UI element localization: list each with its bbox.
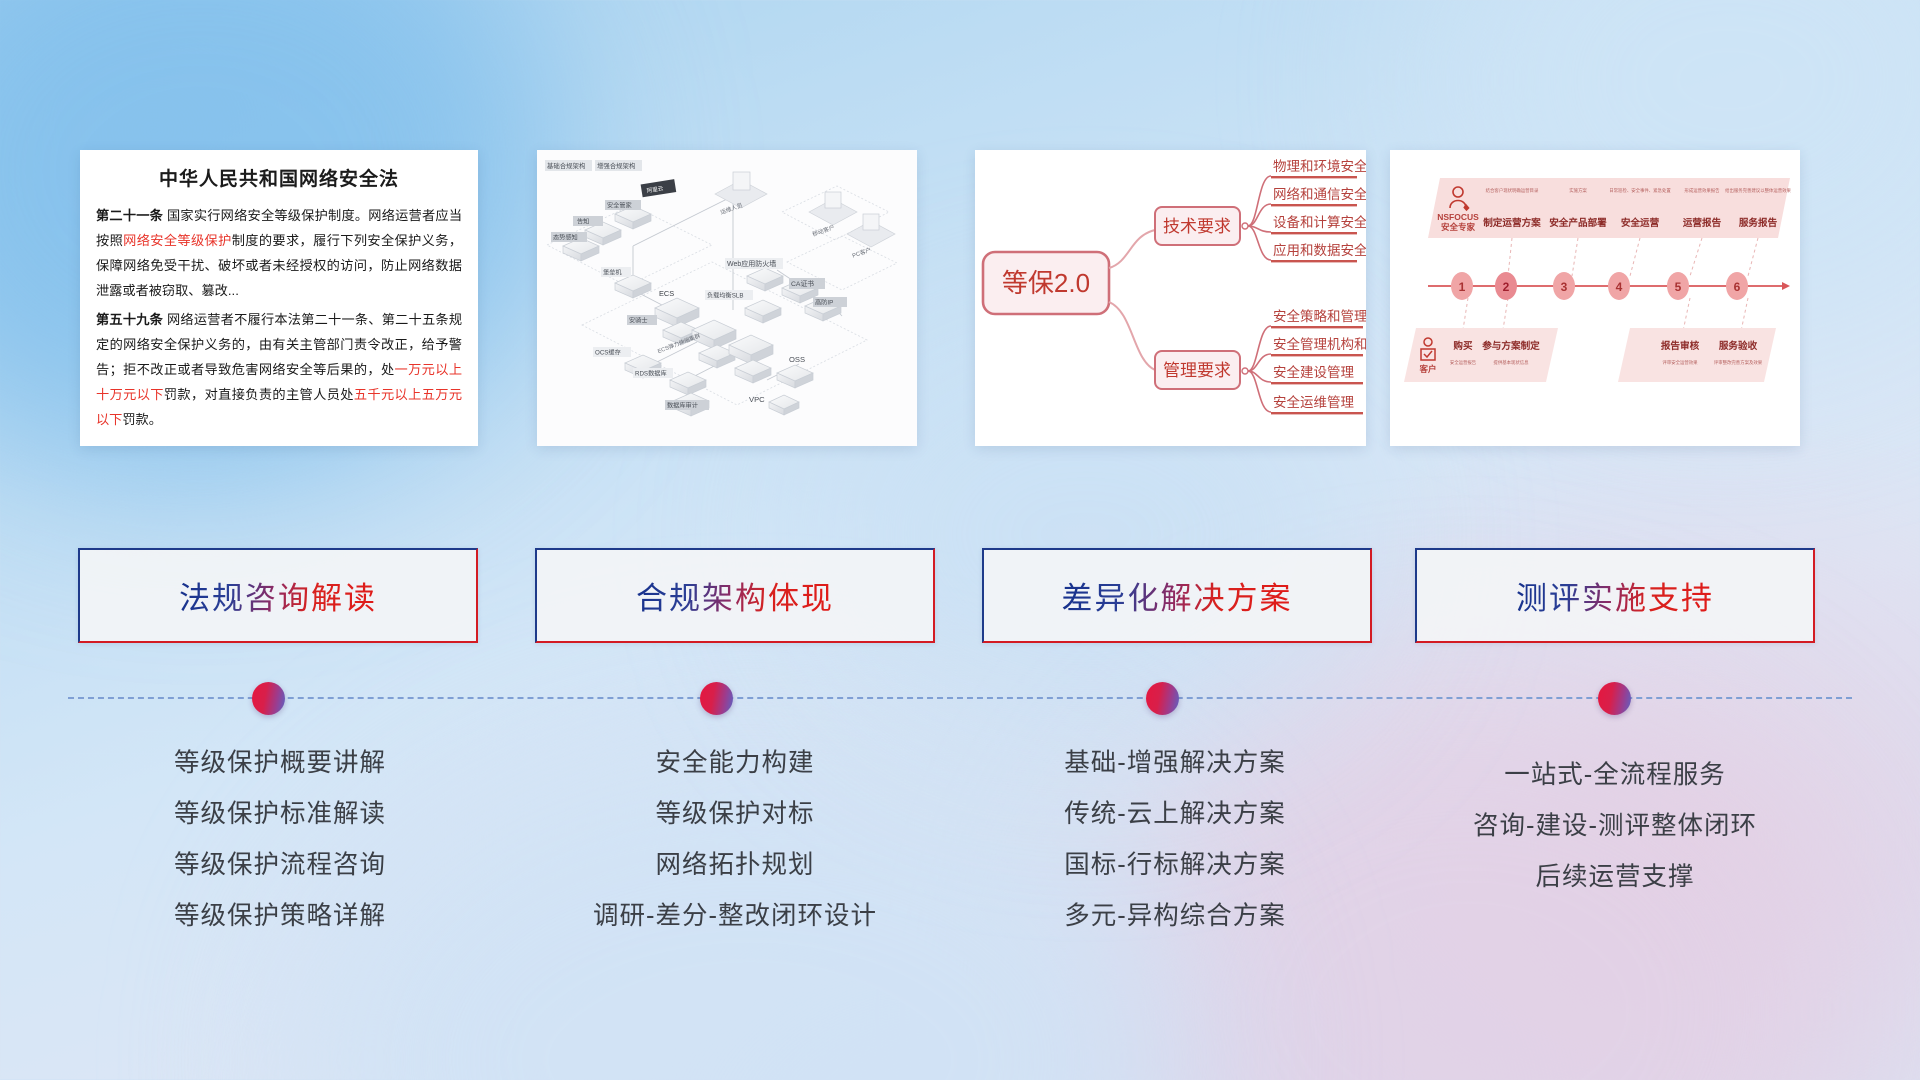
heading-label-1: 合规架构体现: [636, 573, 834, 618]
nsfocus-top-band: [1428, 178, 1790, 238]
timeline-connector: [0, 680, 1920, 720]
card-cybersecurity-law: 中华人民共和国网络安全法 第二十一条 国家实行网络安全等级保护制度。网络运营者应…: [80, 150, 478, 446]
svg-text:3: 3: [1561, 280, 1568, 294]
detail-item: 等级保护概要讲解: [80, 738, 480, 789]
mindmap-b1-item-0: 物理和环境安全: [1273, 158, 1366, 174]
detail-item: 网络拓扑规划: [535, 840, 935, 891]
arch-node-ocs: OCS缓存: [595, 349, 621, 357]
detail-item: 咨询-建设-测评整体闭环: [1415, 801, 1815, 852]
law-article-59: 第五十九条 网络运营者不履行本法第二十一条、第二十五条规定的网络安全保护义务的，…: [96, 307, 462, 432]
detail-item: 调研-差分-整改闭环设计: [535, 891, 935, 942]
mindmap-b2-item-2: 安全建设管理: [1273, 364, 1354, 380]
mindmap-b2-item-0: 安全策略和管理制度: [1273, 308, 1366, 324]
mindmap-branch-1-label: 技术要求: [1163, 217, 1231, 236]
nsfocus-bottom-desc-2: 评审安全运营效果: [1662, 359, 1698, 366]
nsfocus-top-title-2: 安全运营: [1621, 217, 1660, 229]
nsfocus-customer: 客户: [1418, 364, 1436, 374]
arch-node-situational: 态势感知: [553, 234, 578, 242]
detail-item: 等级保护策略详解: [80, 891, 480, 942]
detail-item: 传统-云上解决方案: [975, 789, 1375, 840]
article-59-label: 第五十九条: [96, 312, 163, 327]
arch-node-bastion: 堡垒机: [603, 269, 622, 277]
detail-item: 等级保护流程咨询: [80, 840, 480, 891]
mindmap-root-label: 等保2.0: [1002, 268, 1090, 298]
arch-node-slb: 负载均衡SLB: [707, 292, 743, 300]
heading-label-2: 差异化解决方案: [1062, 573, 1293, 618]
nsfocus-brand-sub: 安全专家: [1441, 222, 1476, 232]
card-nsfocus-timeline: NSFOCUS 安全专家 结合客户现状明确运营目录 制定运营方案 实施方案 安全…: [1390, 150, 1800, 446]
arch-node-ca: CA证书: [791, 279, 814, 288]
mindmap-b2-item-3: 安全运维管理: [1273, 394, 1354, 410]
timeline-dot-1: [700, 682, 733, 715]
mindmap-b1-item-1: 网络和通信安全: [1273, 186, 1366, 202]
nsfocus-diagram: NSFOCUS 安全专家 结合客户现状明确运营目录 制定运营方案 实施方案 安全…: [1390, 150, 1800, 446]
heading-box-3[interactable]: 测评实施支持: [1415, 548, 1815, 643]
mindmap-b2-item-1: 安全管理机构和人员: [1273, 336, 1366, 352]
mindmap-diagram: 等保2.0 技术要求 物理和环境安全 网络和通信安全 设备和计算安全: [975, 150, 1366, 446]
nsfocus-top-desc-3: 形成运营效果报告: [1684, 187, 1720, 194]
detail-item: 安全能力构建: [535, 738, 935, 789]
svg-text:5: 5: [1675, 280, 1682, 294]
arch-tab-enhanced: 增强合规架构: [597, 161, 635, 170]
timeline-dot-3: [1598, 682, 1631, 715]
detail-item: 多元-异构综合方案: [975, 891, 1375, 942]
law-title: 中华人民共和国网络安全法: [96, 164, 462, 191]
detail-columns: 等级保护概要讲解 等级保护标准解读 等级保护流程咨询 等级保护策略详解 安全能力…: [0, 738, 1920, 968]
heading-row: 法规咨询解读 合规架构体现 差异化解决方案 测评实施支持: [0, 548, 1920, 646]
arch-node-security-butler: 安全管家: [607, 202, 632, 210]
law-document: 中华人民共和国网络安全法 第二十一条 国家实行网络安全等级保护制度。网络运营者应…: [80, 150, 478, 446]
architecture-diagram: 基础合规架构 增强合规架构 阿里云 态势感知 告知 安全管家 堡垒机 ECS 安…: [537, 150, 917, 446]
heading-box-2[interactable]: 差异化解决方案: [982, 548, 1372, 643]
nsfocus-bottom-title-1: 参与方案制定: [1482, 340, 1540, 352]
nsfocus-bottom-band-right: [1618, 328, 1776, 382]
article-59-text-c: 罚款。: [122, 412, 162, 427]
article-21-label: 第二十一条: [96, 208, 163, 223]
nsfocus-top-desc-4: 给出服务完善建议以整体运营效果: [1725, 187, 1791, 194]
arch-node-db-audit: 数据库审计: [667, 402, 698, 410]
mindmap-b1-item-3: 应用和数据安全: [1273, 242, 1366, 258]
svg-text:4: 4: [1616, 280, 1623, 294]
detail-item: 等级保护对标: [535, 789, 935, 840]
card-mindmap: 等保2.0 技术要求 物理和环境安全 网络和通信安全 设备和计算安全: [975, 150, 1366, 446]
detail-item: 后续运营支撑: [1415, 852, 1815, 903]
detail-column-2: 基础-增强解决方案 传统-云上解决方案 国标-行标解决方案 多元-异构综合方案: [975, 738, 1375, 942]
detail-item: 等级保护标准解读: [80, 789, 480, 840]
detail-item: 基础-增强解决方案: [975, 738, 1375, 789]
svg-text:2: 2: [1503, 280, 1510, 294]
nsfocus-bottom-title-3: 服务验收: [1719, 340, 1758, 352]
heading-box-1[interactable]: 合规架构体现: [535, 548, 935, 643]
mindmap-b1-item-2: 设备和计算安全: [1273, 214, 1366, 230]
nsfocus-bottom-desc-0: 安全运营报告: [1450, 359, 1477, 366]
nsfocus-bottom-title-2: 报告审核: [1661, 340, 1700, 352]
arch-node-antiddos: 高防IP: [815, 299, 833, 307]
law-article-21: 第二十一条 国家实行网络安全等级保护制度。网络运营者应当按照网络安全等级保护制度…: [96, 203, 462, 303]
heading-label-3: 测评实施支持: [1516, 573, 1714, 618]
detail-item: 一站式-全流程服务: [1415, 750, 1815, 801]
article-21-highlight: 网络安全等级保护: [123, 233, 232, 248]
nsfocus-bottom-desc-1: 提供基本现状信息: [1493, 359, 1529, 366]
timeline-dot-2: [1146, 682, 1179, 715]
nsfocus-top-desc-0: 结合客户现状明确运营目录: [1486, 187, 1539, 194]
svg-text:6: 6: [1734, 280, 1741, 294]
article-59-text-b: 罚款，对直接负责的主管人员处: [164, 387, 354, 402]
arch-node-waf: Web应用防火墙: [727, 259, 776, 268]
heading-label-0: 法规咨询解读: [179, 573, 377, 618]
timeline-dashed-line: [68, 697, 1852, 699]
nsfocus-bottom-desc-3: 评审整改完善方案及效果: [1714, 359, 1763, 366]
nsfocus-top-title-4: 服务报告: [1739, 217, 1778, 229]
detail-column-3: 一站式-全流程服务 咨询-建设-测评整体闭环 后续运营支撑: [1415, 750, 1815, 903]
detail-item: 国标-行标解决方案: [975, 840, 1375, 891]
arch-node-ecs: ECS: [659, 289, 674, 298]
nsfocus-top-desc-1: 实施方案: [1569, 187, 1587, 194]
arch-node-notify: 告知: [577, 218, 589, 226]
arch-node-oss: OSS: [789, 355, 805, 364]
card-row: 中华人民共和国网络安全法 第二十一条 国家实行网络安全等级保护制度。网络运营者应…: [0, 150, 1920, 450]
svg-text:1: 1: [1459, 280, 1466, 294]
arch-node-rds: RDS数据库: [635, 370, 667, 378]
arch-node-vpc: VPC: [749, 395, 765, 404]
card-cloud-architecture: 基础合规架构 增强合规架构 阿里云 态势感知 告知 安全管家 堡垒机 ECS 安…: [537, 150, 917, 446]
timeline-dot-0: [252, 682, 285, 715]
detail-column-1: 安全能力构建 等级保护对标 网络拓扑规划 调研-差分-整改闭环设计: [535, 738, 935, 942]
nsfocus-top-desc-2: 日常巡检、安全事件、紧急处置: [1609, 187, 1671, 194]
arch-tab-basic: 基础合规架构: [547, 161, 585, 170]
nsfocus-top-title-0: 制定运营方案: [1483, 217, 1541, 229]
mindmap-branch-2-label: 管理要求: [1163, 361, 1231, 380]
nsfocus-bottom-title-0: 购买: [1453, 340, 1473, 352]
heading-box-0[interactable]: 法规咨询解读: [78, 548, 478, 643]
arch-node-anqishi: 安骑士: [629, 317, 648, 325]
nsfocus-top-title-3: 运营报告: [1683, 217, 1722, 229]
nsfocus-brand: NSFOCUS: [1437, 212, 1479, 222]
nsfocus-top-title-1: 安全产品部署: [1549, 217, 1607, 229]
detail-column-0: 等级保护概要讲解 等级保护标准解读 等级保护流程咨询 等级保护策略详解: [80, 738, 480, 942]
